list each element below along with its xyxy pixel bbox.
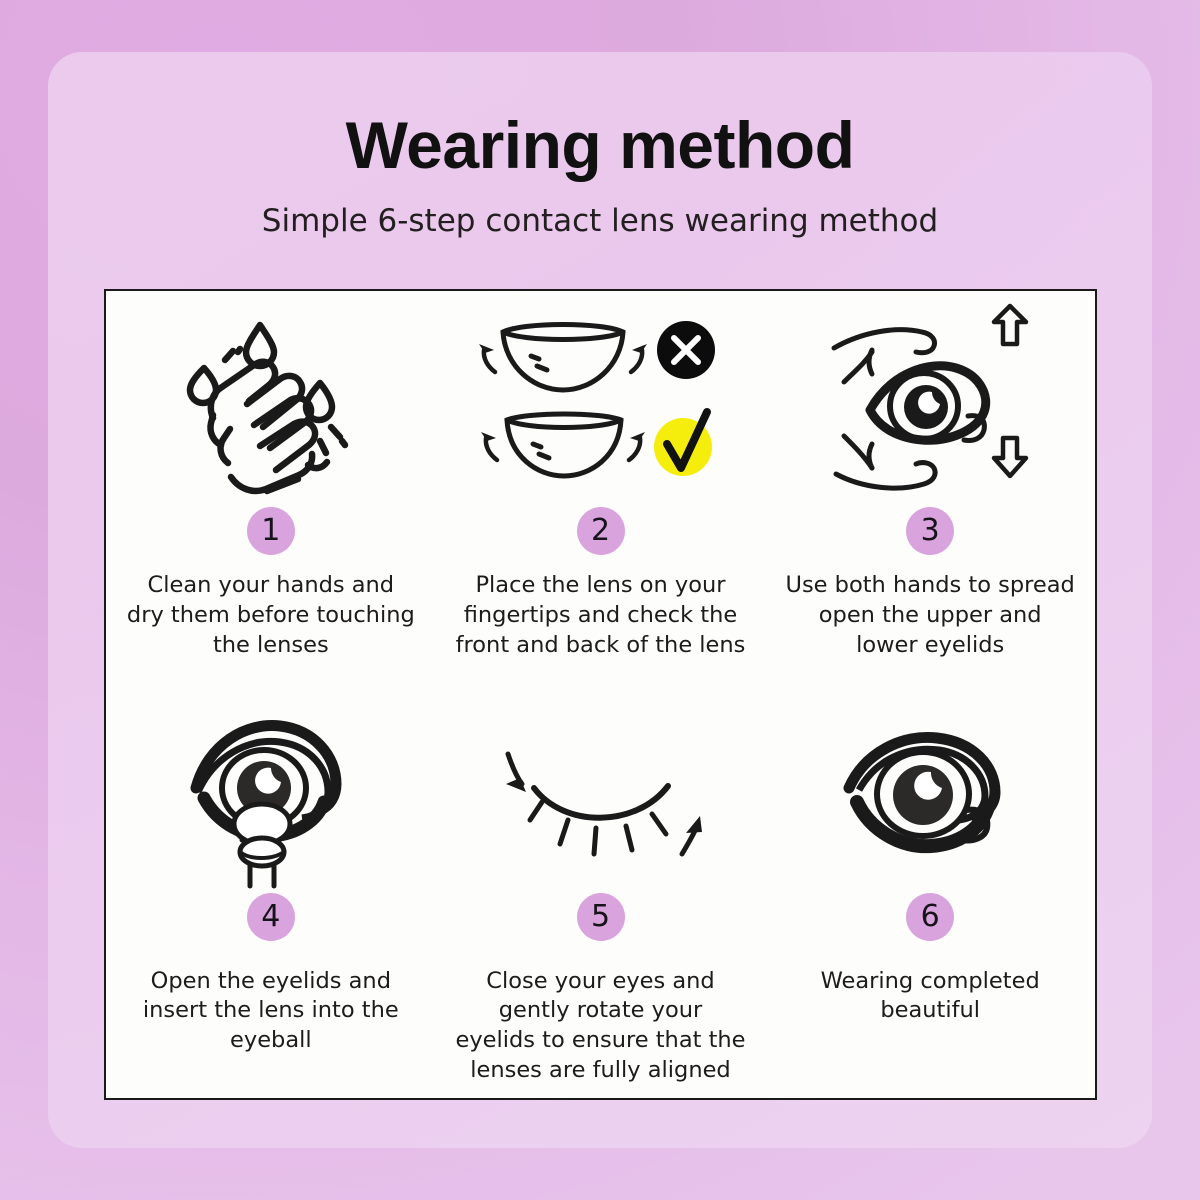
step-3-badge: 3 [906,507,954,555]
step-4-badge: 4 [247,893,295,941]
step-2-badge: 2 [577,507,625,555]
steps-row-bottom: 4 Open the eyelids and insert the lens i… [106,695,1095,1099]
step-1: 1 Clean your hands and dry them before t… [106,291,436,695]
poster: Wearing method Simple 6-step contact len… [0,0,1200,1200]
closed-eye-lashes-icon [486,730,716,870]
step-1-badge: 1 [247,507,295,555]
page-title: Wearing method [0,0,1200,178]
steps-grid: 1 Clean your hands and dry them before t… [106,291,1095,1098]
step-2: 2 Place the lens on your fingertips and … [436,291,766,695]
step-4-caption: Open the eyelids and insert the lens int… [126,967,416,1057]
step-3: 3 Use both hands to spread open the uppe… [765,291,1095,695]
step-1-illustration [106,291,436,503]
header: Wearing method Simple 6-step contact len… [0,0,1200,237]
steps-row-top: 1 Clean your hands and dry them before t… [106,291,1095,695]
eye-spread-eyelids-icon [828,310,1033,490]
step-6-caption: Wearing completed beautiful [785,967,1075,1027]
steps-card: 1 Clean your hands and dry them before t… [104,289,1097,1100]
lens-orientation-icon [471,308,731,493]
step-6-illustration [765,695,1095,891]
open-eye-icon [835,732,1025,867]
step-3-caption: Use both hands to spread open the upper … [785,571,1075,661]
step-5-badge: 5 [577,893,625,941]
step-4-illustration [106,695,436,891]
insert-lens-into-eye-icon [176,712,366,887]
page-subtitle: Simple 6-step contact lens wearing metho… [0,178,1200,237]
step-4: 4 Open the eyelids and insert the lens i… [106,695,436,1099]
step-5-caption: Close your eyes and gently rotate your e… [456,967,746,1087]
step-6: 6 Wearing completed beautiful [765,695,1095,1099]
step-6-badge: 6 [906,893,954,941]
step-5: 5 Close your eyes and gently rotate your… [436,695,766,1099]
step-2-illustration [436,291,766,503]
step-3-illustration [765,291,1095,503]
step-5-illustration [436,695,766,891]
step-2-caption: Place the lens on your fingertips and ch… [456,571,746,661]
step-1-caption: Clean your hands and dry them before tou… [126,571,416,661]
washing-hands-icon [168,305,373,495]
